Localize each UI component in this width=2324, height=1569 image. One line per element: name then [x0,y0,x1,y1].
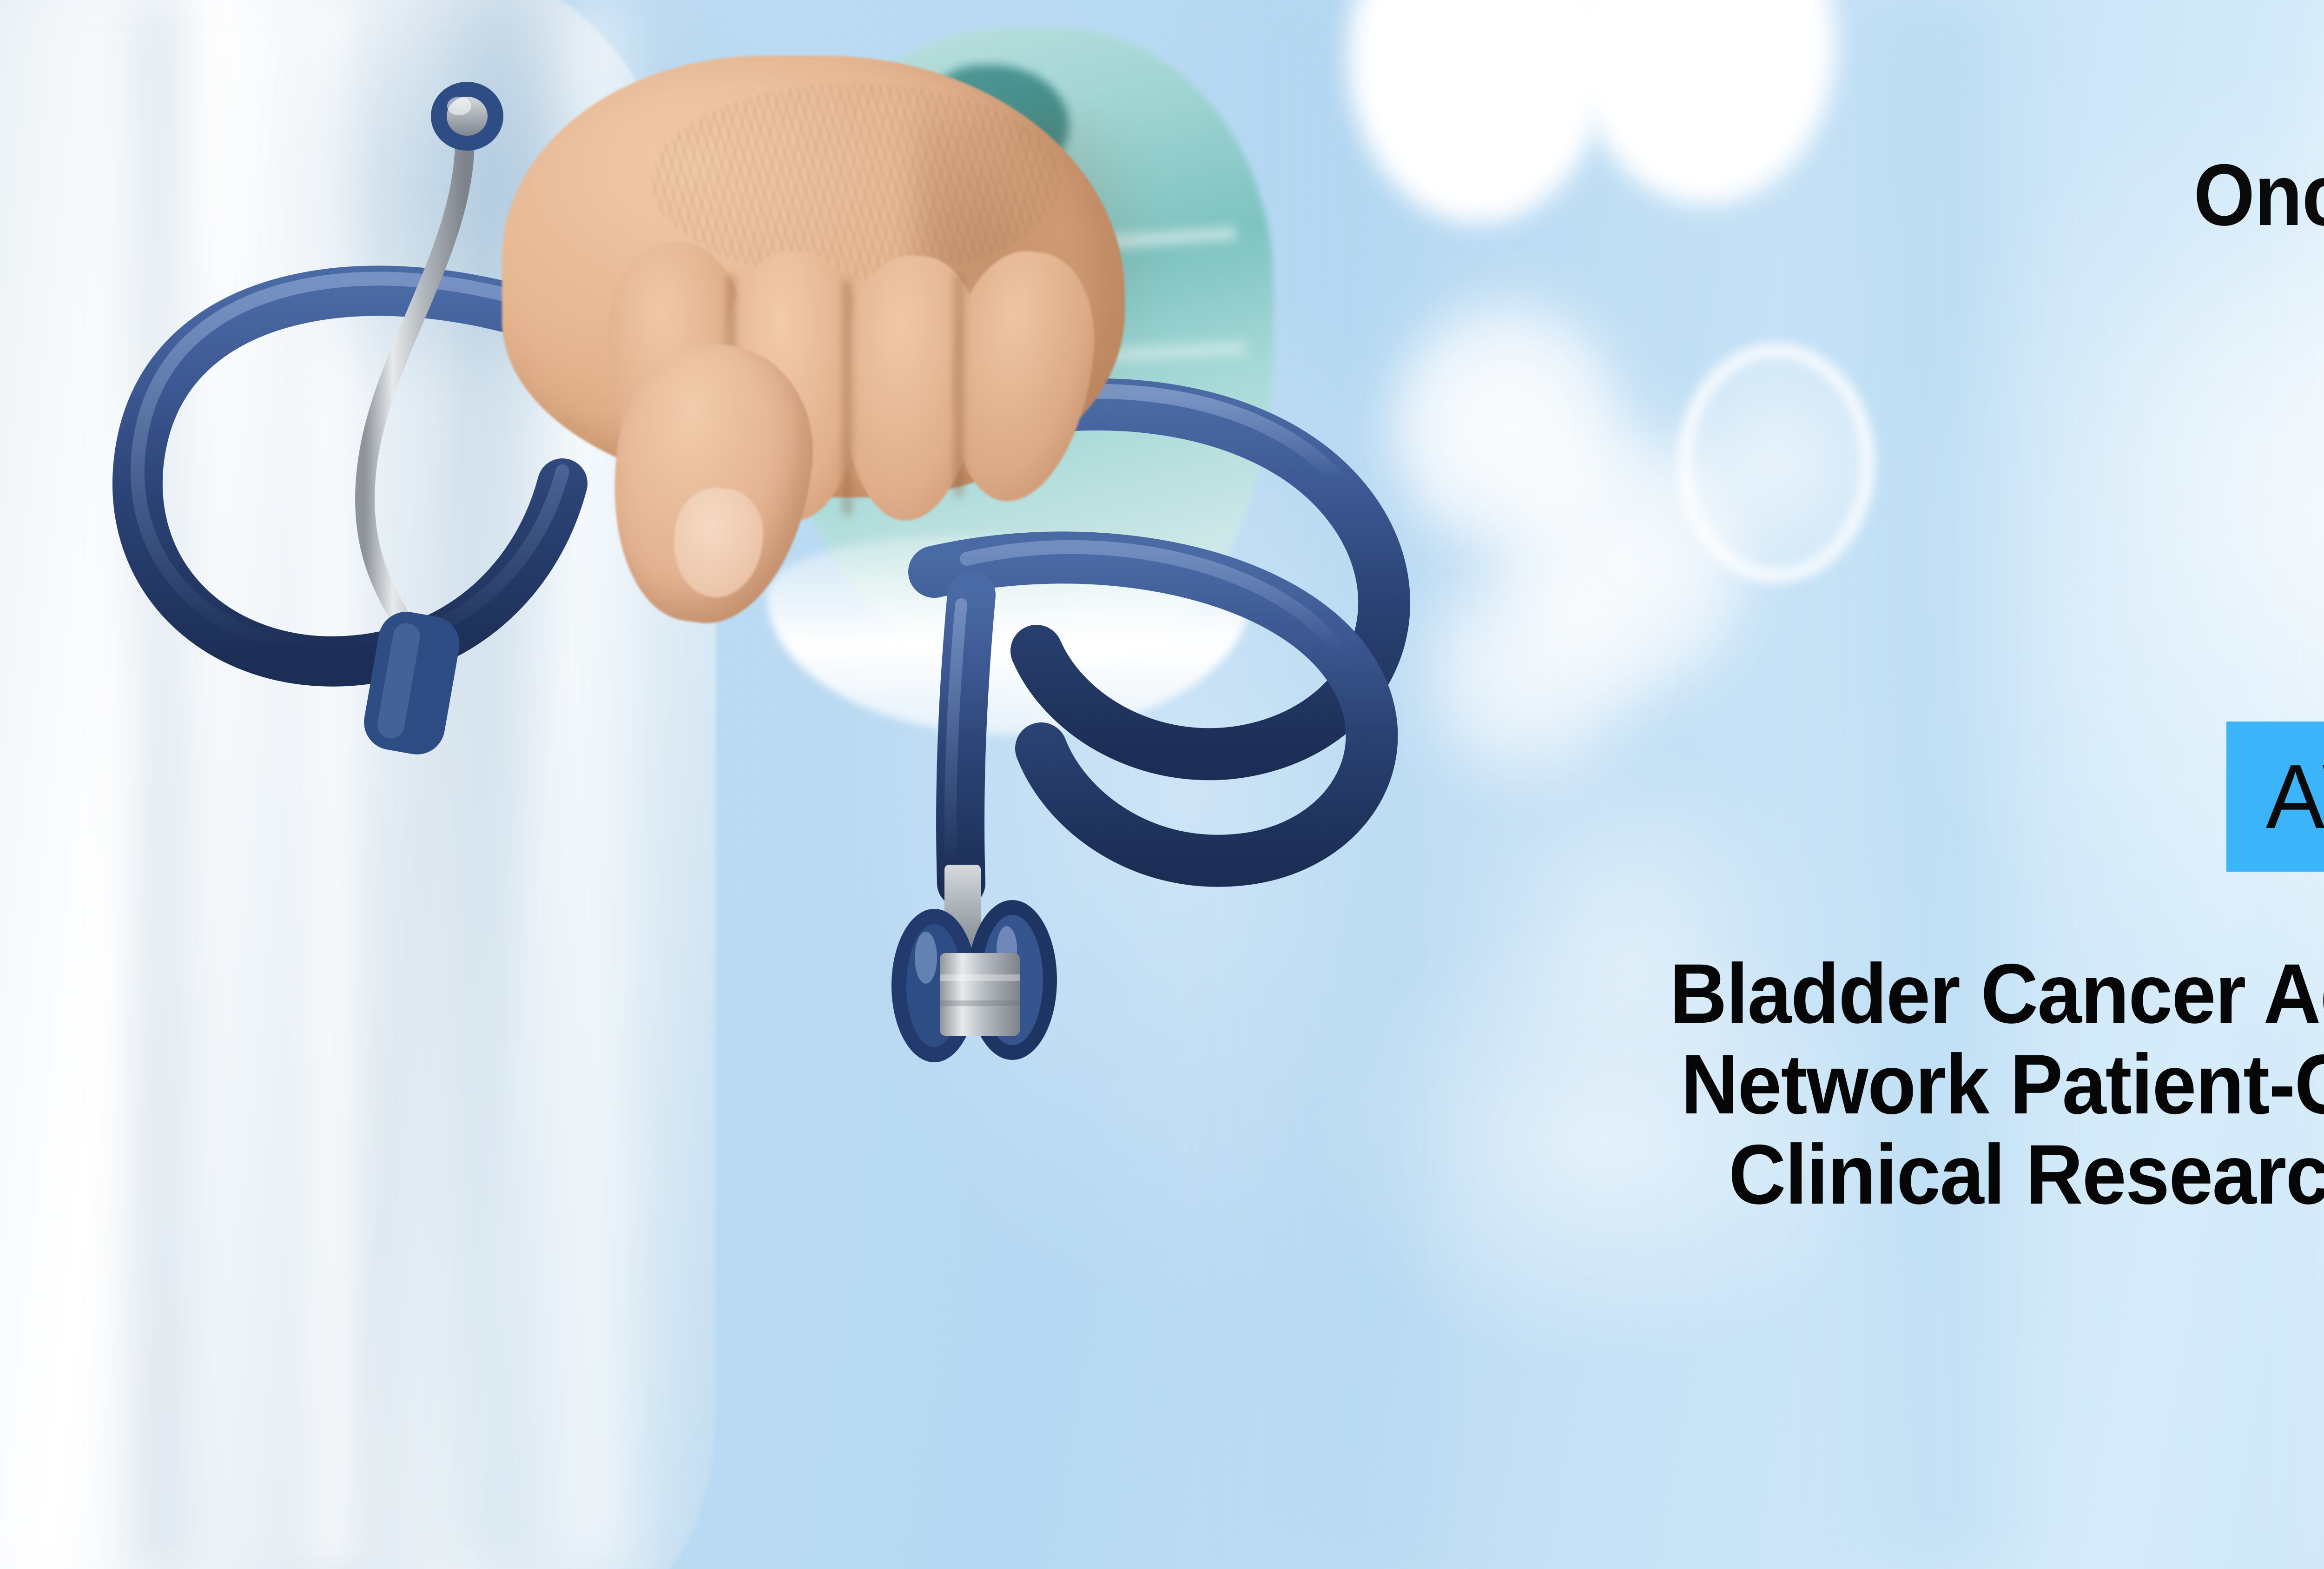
finger-gap [844,279,851,516]
hand-hair-texture [651,84,1060,279]
finger-gap [955,274,963,497]
stethoscope-hanging-tube [951,595,971,883]
stethoscope [0,0,2324,1569]
award-badge: AWARD [2226,722,2324,872]
award-announcement-card: Oncogrants AWARD Bladder Cancer Advocacy… [0,0,2324,1569]
award-title-line-3: Clinical Research Award [1670,1129,2324,1220]
stethoscope-chest-piece [891,865,1057,1062]
stethoscope-binaural-left [365,139,465,632]
award-title: Bladder Cancer Advocacy Network Patient-… [1608,948,2324,1220]
award-badge-label: AWARD [2266,751,2324,842]
award-title-line-1: Bladder Cancer Advocacy [1670,948,2324,1039]
doctor-hand [474,56,1148,628]
brand-logo: Oncogrants [2193,151,2324,238]
stethoscope-lower-cuff [360,607,464,759]
award-title-line-2: Network Patient-Centered [1670,1039,2324,1130]
